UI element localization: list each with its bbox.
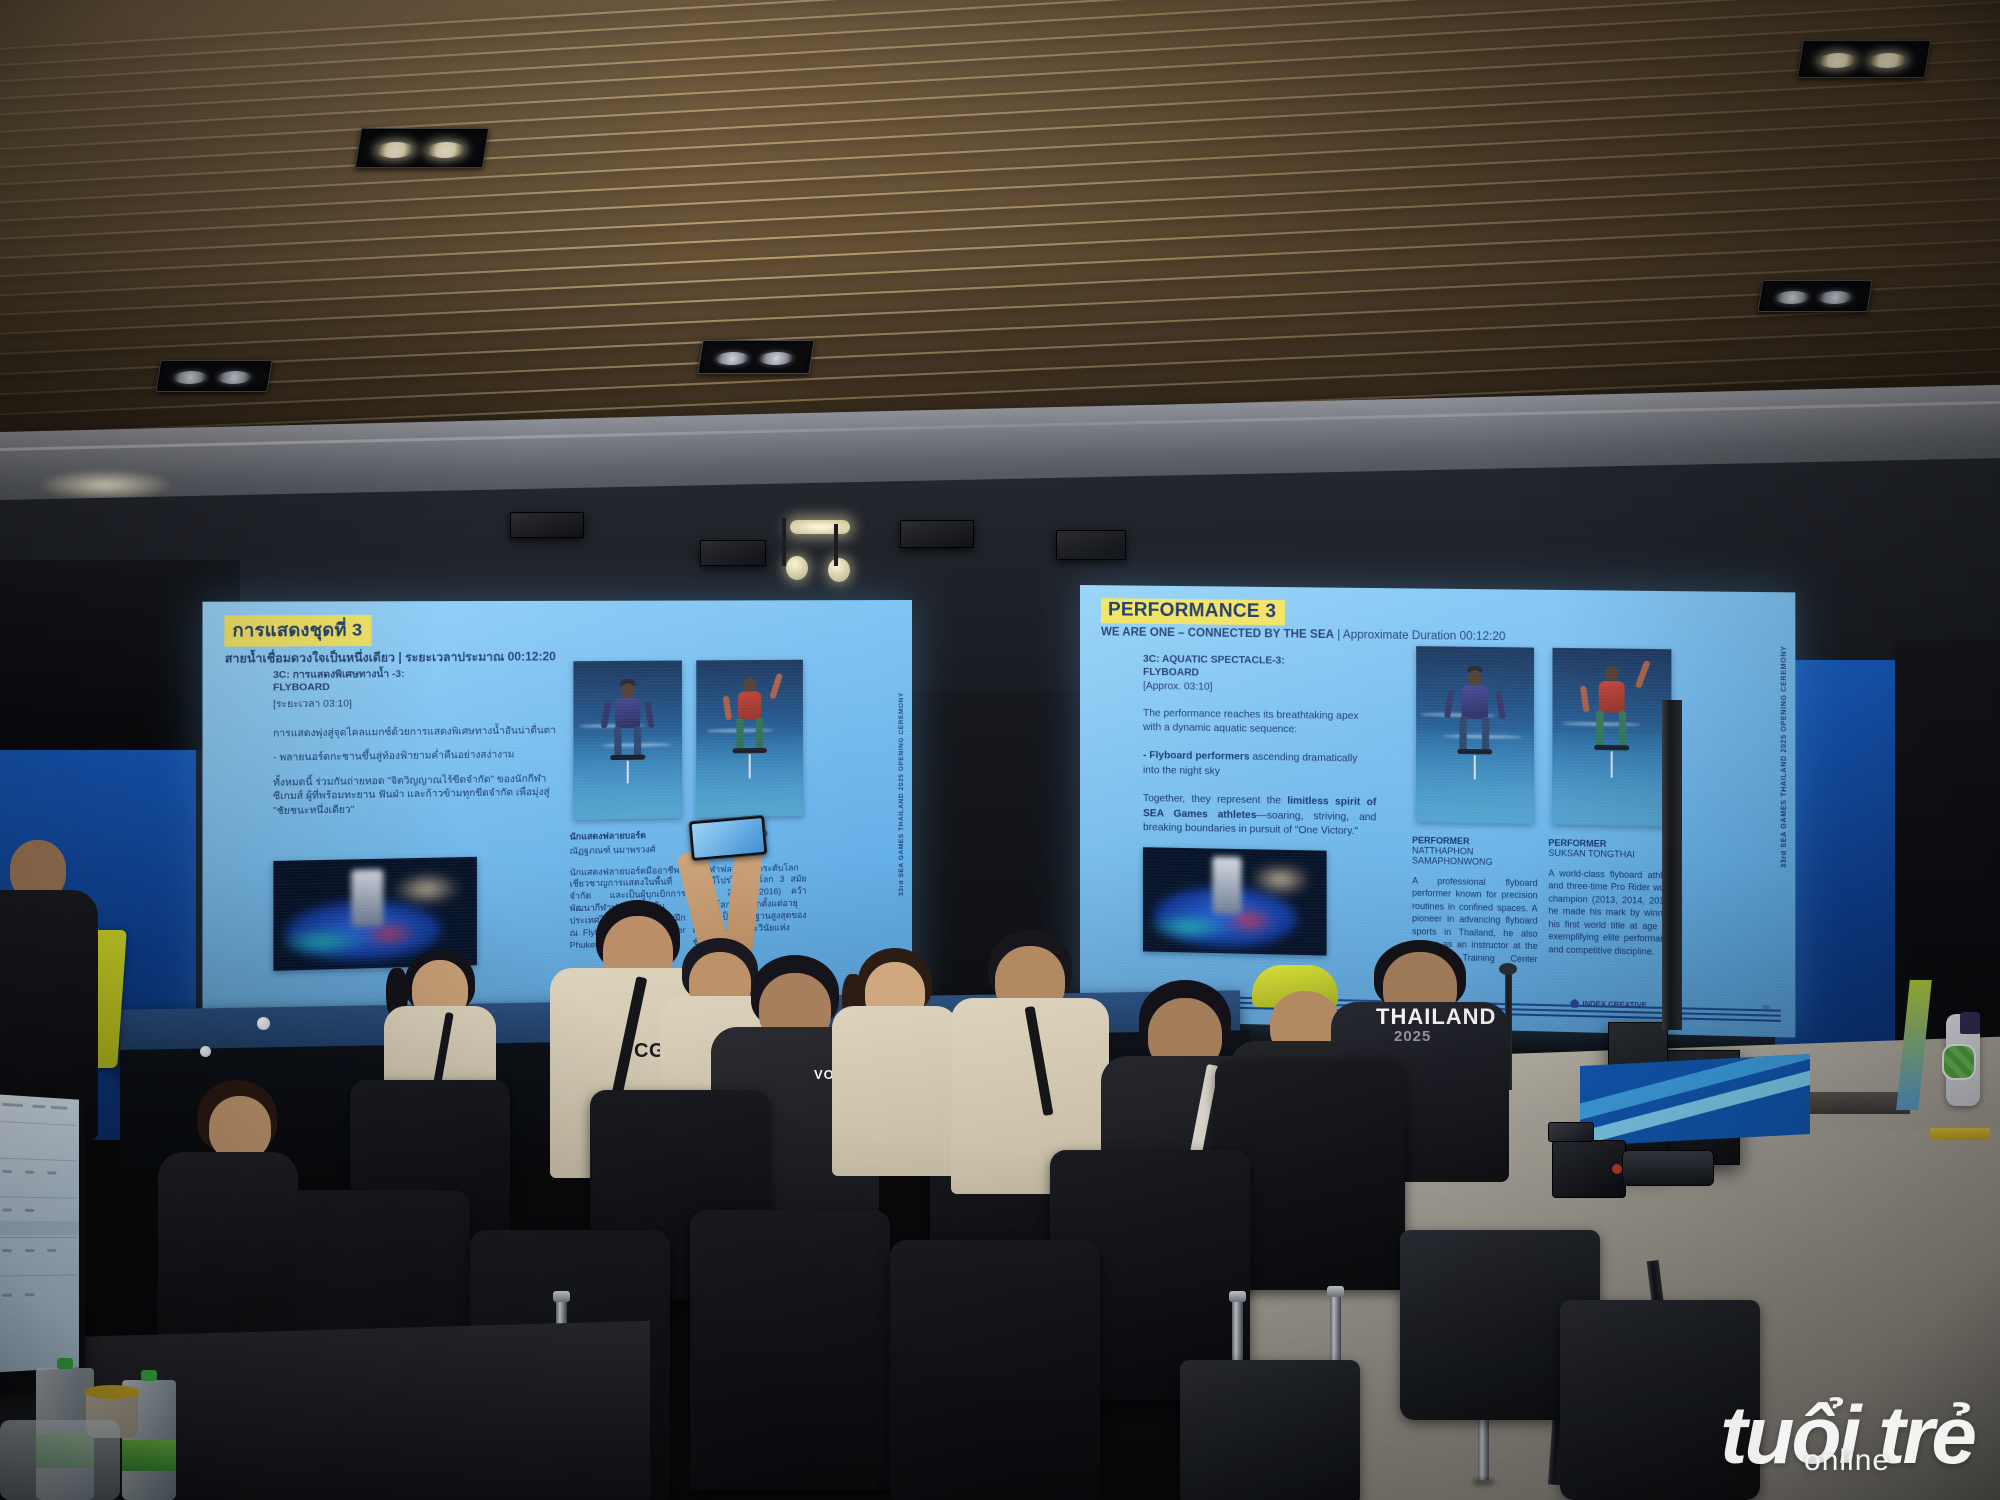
cell — [2, 1208, 12, 1211]
smartphone-camera — [688, 815, 767, 861]
ceiling-downlight-icon — [1797, 40, 1931, 78]
section-duration: [Approx. 03:10] — [1143, 680, 1376, 694]
performer-name: SUKSAN TONGTHAI — [1548, 847, 1675, 860]
flyboard-rider-figure — [595, 679, 660, 794]
ceiling-speaker — [510, 512, 584, 538]
cell — [25, 1209, 34, 1212]
table-row — [0, 1196, 76, 1199]
slide-body-right: 3C: AQUATIC SPECTACLE-3: FLYBOARD [Appro… — [1143, 653, 1376, 840]
performer-caption-2-right: PERFORMER SUKSAN TONGTHAI A world-class … — [1548, 837, 1675, 958]
section-duration: [ระยะเวลา 03:10] — [273, 694, 563, 712]
cell — [25, 1249, 34, 1252]
water-nozzle — [627, 761, 629, 783]
beige-vest — [832, 1006, 958, 1176]
audience-chair — [690, 1210, 890, 1490]
bottle-cap — [57, 1358, 73, 1369]
paragraph-1: การแสดงพุ่งสู่จุดไคลแมกซ์ด้วยการแสดงพิเศ… — [273, 723, 563, 740]
table-row — [0, 1157, 76, 1161]
bullet-bold: - Flyboard performers — [1143, 750, 1250, 763]
section-title-line2: FLYBOARD — [273, 680, 563, 695]
shirt-logo-thailand: THAILAND — [1376, 1004, 1496, 1030]
slide-side-text-right: 33rd SEA GAMES THAILAND 2025 OPENING CER… — [1781, 646, 1788, 868]
bullet-flyboard-performers: - Flyboard performers ascending dramatic… — [1143, 749, 1376, 782]
performer-bio: A world-class flyboard athlete and three… — [1548, 867, 1675, 959]
ceiling-speaker — [1056, 530, 1126, 560]
rider-arm — [601, 702, 612, 729]
slide-page-number-right: 36 — [1762, 1003, 1771, 1012]
flyboard-board — [1457, 749, 1492, 755]
plastic-bag — [0, 1420, 120, 1500]
ceiling-downlight-icon — [1757, 280, 1872, 312]
rider-leg — [737, 718, 744, 750]
performer-photo-1 — [573, 660, 682, 820]
header-rule-lines — [1353, 604, 1781, 625]
slide-logo-right: INDEX CREATIVE — [1570, 999, 1647, 1010]
rider-arm — [722, 696, 731, 721]
spreadsheet-screen — [0, 1094, 79, 1373]
brand-mark-icon — [1570, 999, 1579, 1008]
slide-side-text-left: 33rd SEA GAMES THAILAND 2025 OPENING CER… — [898, 692, 905, 896]
highlighted-band — [0, 1221, 79, 1236]
brand-logo-text: INDEX CREATIVE — [1582, 999, 1646, 1010]
rider-leg — [615, 727, 622, 758]
lighting-pole — [1662, 700, 1682, 1030]
cell — [47, 1171, 56, 1174]
shirt-logo-2025: 2025 — [1394, 1028, 1431, 1045]
water-nozzle — [1611, 751, 1613, 777]
mascot-standee-right — [1930, 1000, 1990, 1140]
performer-name: ณัฏฐภณฑ์ นมาพรวงศ์ — [570, 841, 686, 858]
flyboard-rider-figure — [1439, 665, 1510, 796]
stage-marker-ball — [257, 1017, 270, 1030]
rider-head — [1605, 666, 1618, 681]
slide-body-left: 3C: การแสดงพิเศษทางน้ำ -3: FLYBOARD [ระย… — [273, 668, 563, 819]
paragraph-1: The performance reaches its breathtaking… — [1143, 706, 1376, 739]
paragraph-2: Together, they represent the limitless s… — [1143, 793, 1376, 841]
audience-chair — [890, 1240, 1100, 1500]
backpack — [1180, 1360, 1360, 1500]
rider-arm-raised — [769, 673, 783, 700]
stage-marker-ball — [200, 1046, 211, 1057]
ceiling-speaker — [700, 540, 766, 566]
camera-red-button-icon — [1612, 1164, 1622, 1174]
stage-render-photo-right — [1143, 847, 1327, 956]
cell — [25, 1293, 34, 1296]
bulkhead-light-glow — [40, 470, 170, 500]
rider-leg — [1460, 716, 1467, 751]
rider-leg — [1619, 711, 1626, 748]
rider-leg — [1597, 711, 1604, 748]
slide-header-badge: การแสดงชุดที่ 3 — [225, 614, 372, 646]
cell — [32, 1105, 45, 1109]
rider-arm — [1580, 686, 1590, 713]
stage-truss-light — [790, 520, 850, 534]
ceiling-downlight-icon — [697, 340, 814, 374]
rider-leg — [756, 718, 763, 750]
ceiling-speaker — [900, 520, 974, 548]
flyboard-rider-figure — [718, 675, 782, 792]
truss-bar — [782, 518, 786, 566]
rider-arm — [1495, 690, 1506, 719]
screenshot-root: การแสดงชุดที่ 3 สายน้ำเชื่อมดวงใจเป็นหนึ… — [0, 0, 2000, 1500]
performer-photo-1 — [1416, 646, 1534, 824]
flyboard-board — [610, 755, 645, 761]
flyboard-board — [733, 748, 768, 754]
camera-monitor-icon — [1548, 1122, 1594, 1142]
rider-head — [621, 684, 634, 699]
audience-person-front-left — [150, 1080, 300, 1340]
water-nozzle — [1474, 755, 1476, 779]
flyboard-board — [1594, 745, 1629, 751]
table-row — [0, 1237, 76, 1238]
cup-lid — [84, 1385, 140, 1399]
cell — [2, 1103, 23, 1107]
truss-bar — [834, 524, 838, 566]
cell — [2, 1249, 12, 1252]
rider-head — [1468, 670, 1481, 685]
toolbar-row — [0, 1121, 76, 1126]
head — [209, 1096, 271, 1160]
ceiling-downlight-icon — [355, 128, 489, 168]
bottle-label — [122, 1440, 176, 1471]
audience-person — [830, 948, 960, 1168]
cell — [25, 1171, 34, 1174]
water-nozzle — [749, 754, 751, 778]
subtitle-rest: | Approximate Duration 00:12:20 — [1334, 629, 1505, 643]
turtle-shell-icon — [1942, 1044, 1976, 1080]
rider-torso — [1461, 685, 1488, 719]
rider-torso — [738, 692, 761, 721]
slide-header-badge: PERFORMANCE 3 — [1101, 598, 1285, 625]
rider-arm — [1444, 689, 1455, 718]
header-rule-lines — [477, 616, 898, 634]
cell — [47, 1249, 56, 1252]
performer-photo-2 — [1552, 647, 1671, 826]
standee-base — [1930, 1128, 1990, 1140]
paragraph-2: - พลายนอร์ดกะชานขึ้นสู่ท้องฟ้ายามค่ำคืนอ… — [273, 748, 563, 766]
black-jacket — [158, 1152, 298, 1342]
slide-header-right: PERFORMANCE 3 WE ARE ONE – CONNECTED BY … — [1101, 598, 1781, 646]
stage-structure — [351, 869, 384, 926]
paragraph-3: ทั้งหมดนี้ ร่วมกันถ่ายทอด "จิตวิญญาณไร้ข… — [273, 772, 563, 819]
camera-lens — [1622, 1150, 1714, 1186]
watermark-tuoitre: tuổi trẻ online — [1720, 1402, 1974, 1474]
stage-truss-light — [786, 556, 808, 580]
backdrop-wall-blue — [1775, 660, 1915, 1100]
mascot-hat-icon — [1960, 1012, 1980, 1034]
performer-name: NATTHAPHON SAMAPHONWONG — [1412, 845, 1538, 868]
flyboard-rider-figure — [1576, 664, 1648, 800]
rider-head — [743, 678, 756, 693]
rider-arm — [644, 702, 655, 729]
bottle-cap — [141, 1370, 157, 1381]
stage-structure — [1213, 857, 1242, 914]
rider-torso — [1599, 681, 1625, 713]
crowd-glow — [392, 872, 461, 906]
cell — [2, 1170, 12, 1173]
laptop-monitor — [0, 1089, 85, 1396]
performer-photo-2 — [696, 660, 803, 819]
table-row — [0, 1274, 76, 1276]
ceiling-downlight-icon — [155, 360, 272, 392]
cell — [2, 1294, 12, 1297]
cell — [51, 1106, 67, 1110]
rider-leg — [1482, 716, 1489, 751]
stage-truss-light — [828, 558, 850, 582]
rider-torso — [615, 698, 640, 729]
paragraph-2-pre: Together, they represent the — [1143, 794, 1287, 808]
rider-leg — [634, 727, 641, 758]
rider-arm-raised — [1635, 660, 1651, 689]
